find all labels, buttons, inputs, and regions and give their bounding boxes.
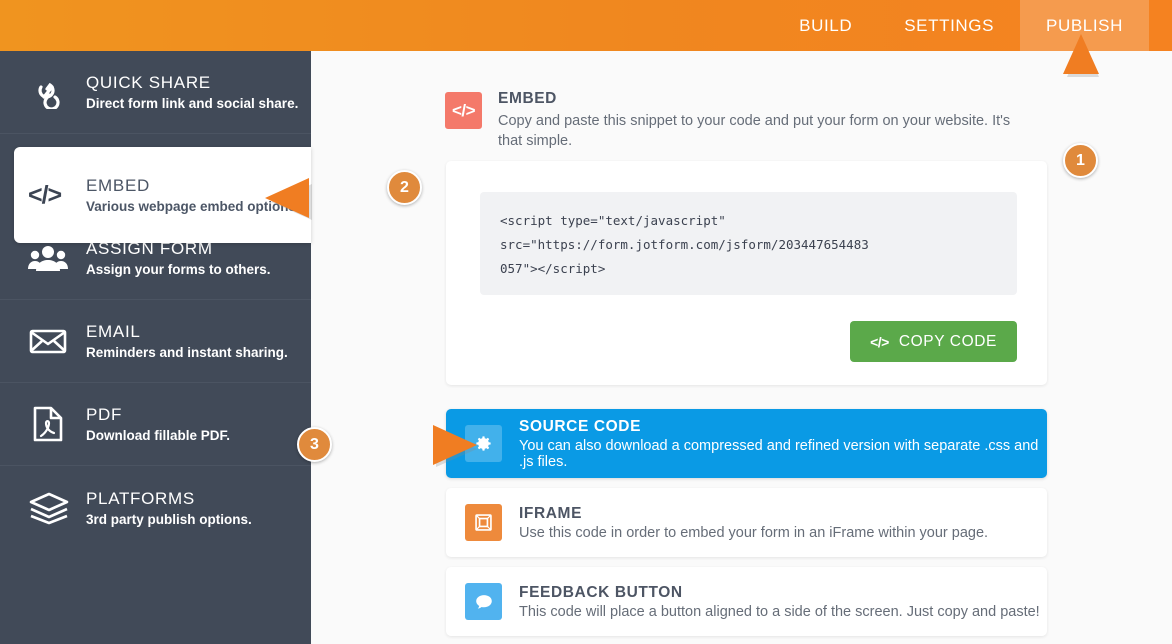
sidebar-item-title: EMAIL	[86, 322, 288, 342]
option-description: Use this code in order to embed your for…	[519, 525, 988, 541]
annotation-badge-2: 2	[387, 170, 422, 205]
frame-icon	[465, 504, 502, 541]
embed-description: Copy and paste this snippet to your code…	[498, 112, 1025, 151]
option-description: You can also download a compressed and r…	[519, 438, 1047, 470]
sidebar-item-subtitle: Assign your forms to others.	[86, 262, 271, 277]
gear-icon	[465, 425, 502, 462]
main-content-panel: </> EMBED Copy and paste this snippet to…	[311, 51, 1172, 644]
code-brackets-icon: </>	[28, 181, 86, 210]
pdf-file-icon	[28, 405, 86, 443]
speech-bubble-icon	[465, 583, 502, 620]
layers-icon	[28, 491, 86, 525]
top-navigation-bar: BUILD SETTINGS PUBLISH	[0, 0, 1172, 51]
sidebar-item-quick-share[interactable]: QUICK SHARE Direct form link and social …	[0, 51, 311, 134]
option-row-source-code[interactable]: SOURCE CODE You can also download a comp…	[446, 409, 1047, 478]
sidebar-item-title: EMBED	[86, 176, 300, 196]
option-description: This code will place a button aligned to…	[519, 604, 1040, 620]
code-brackets-icon: </>	[870, 334, 889, 350]
tab-settings[interactable]: SETTINGS	[878, 0, 1020, 51]
option-title: FEEDBACK BUTTON	[519, 584, 1040, 602]
option-title: SOURCE CODE	[519, 418, 1047, 436]
sidebar-item-embed[interactable]: </> EMBED Various webpage embed options.	[14, 147, 311, 243]
embed-section-header: </> EMBED Copy and paste this snippet to…	[445, 90, 1045, 151]
tab-build[interactable]: BUILD	[773, 0, 878, 51]
publish-sidebar: QUICK SHARE Direct form link and social …	[0, 51, 311, 644]
option-row-iframe[interactable]: IFRAME Use this code in order to embed y…	[446, 488, 1047, 557]
copy-code-button[interactable]: </> COPY CODE	[850, 321, 1017, 362]
sidebar-item-subtitle: Various webpage embed options.	[86, 199, 300, 214]
annotation-badge-1: 1	[1063, 143, 1098, 178]
annotation-badge-3: 3	[297, 427, 332, 462]
sidebar-item-subtitle: Direct form link and social share.	[86, 96, 298, 111]
sidebar-item-platforms[interactable]: PLATFORMS 3rd party publish options.	[0, 466, 311, 549]
embed-code-card: <script type="text/javascript" src="http…	[446, 161, 1047, 385]
sidebar-item-subtitle: 3rd party publish options.	[86, 512, 252, 527]
option-title: IFRAME	[519, 505, 988, 523]
copy-code-label: COPY CODE	[899, 333, 997, 351]
sidebar-item-subtitle: Download fillable PDF.	[86, 428, 230, 443]
tab-publish[interactable]: PUBLISH	[1020, 0, 1149, 51]
embed-code-snippet[interactable]: <script type="text/javascript" src="http…	[480, 192, 1017, 295]
option-row-feedback-button[interactable]: FEEDBACK BUTTON This code will place a b…	[446, 567, 1047, 636]
sidebar-item-title: PLATFORMS	[86, 489, 252, 509]
sidebar-item-title: QUICK SHARE	[86, 73, 298, 93]
envelope-icon	[28, 326, 86, 356]
sidebar-item-pdf[interactable]: PDF Download fillable PDF.	[0, 383, 311, 466]
sidebar-item-email[interactable]: EMAIL Reminders and instant sharing.	[0, 300, 311, 383]
sidebar-item-subtitle: Reminders and instant sharing.	[86, 345, 288, 360]
link-chain-icon	[28, 75, 86, 109]
sidebar-item-title: PDF	[86, 405, 230, 425]
assign-users-icon	[28, 243, 86, 273]
embed-title: EMBED	[498, 90, 1025, 108]
code-brackets-icon: </>	[445, 92, 482, 129]
